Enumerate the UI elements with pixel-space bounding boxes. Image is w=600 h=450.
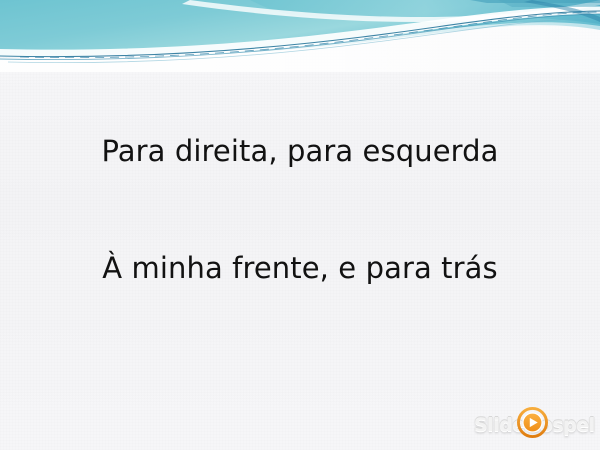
lyric-line: Para direita, para esquerda <box>0 132 600 171</box>
lyrics-text-block: Para direita, para esquerda À minha fren… <box>0 54 600 450</box>
play-button-icon <box>517 407 548 438</box>
slidegospel-watermark: SlideGospel <box>474 406 592 444</box>
lyric-line-spacer <box>0 366 600 405</box>
presentation-slide: Para direita, para esquerda À minha fren… <box>0 0 600 450</box>
lyric-line: À minha frente, e para trás <box>0 249 600 288</box>
